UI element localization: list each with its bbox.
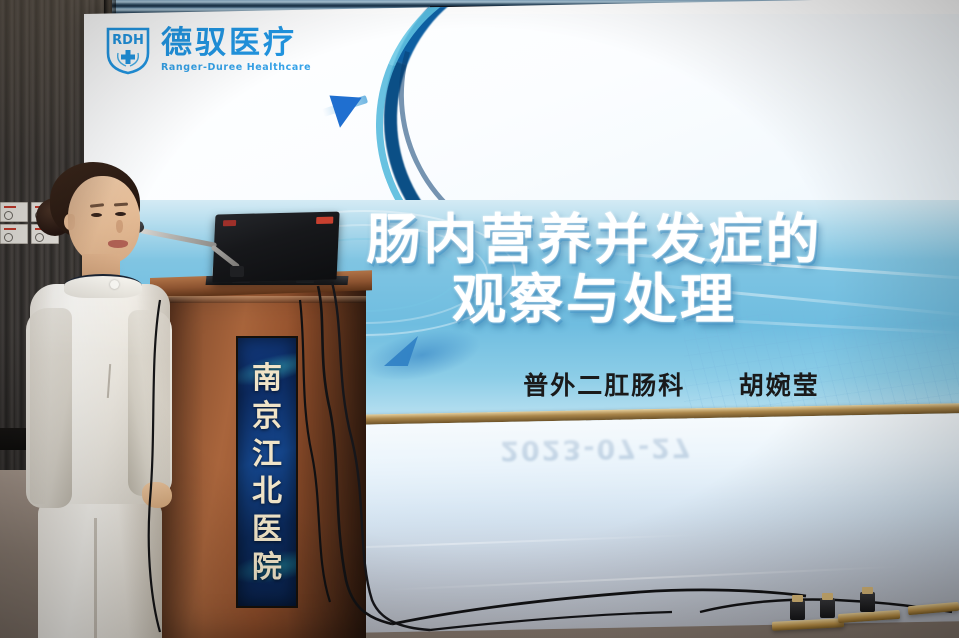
rdh-shield-icon: RDH: [104, 25, 152, 75]
presentation-photo: RDH 德驭医疗 Ranger-Duree Healthcare 肠内营养并发症…: [0, 0, 959, 638]
cable-connector: [860, 592, 875, 612]
speaker-legs-shading: [38, 500, 162, 638]
svg-text:RDH: RDH: [112, 33, 144, 48]
speaker-hand: [142, 482, 172, 508]
lectern-front-edge: [158, 296, 366, 303]
brand-name-en: Ranger-Duree Healthcare: [161, 62, 311, 73]
laptop-brand-logo-icon: [223, 220, 236, 226]
plaque-char: 院: [238, 549, 296, 587]
speaker-collar-button: [110, 280, 119, 289]
brand-logo: RDH 德驭医疗 Ranger-Duree Healthcare: [104, 25, 311, 75]
laptop-badge-icon: [316, 217, 333, 224]
plaque-text: 南 京 江 北 医 院: [238, 360, 296, 587]
speaker-uniform-folds: [30, 284, 170, 504]
cable-connector: [820, 598, 835, 618]
plaque-char: 南: [238, 360, 296, 398]
microphone-mount: [230, 266, 244, 277]
speaker: [24, 158, 184, 638]
plaque-char: 京: [238, 398, 296, 436]
speaker-collar: [64, 274, 142, 298]
speaker-face-shading: [68, 176, 140, 264]
brand-name-cn: 德驭医疗: [161, 28, 311, 59]
plaque-char: 医: [238, 511, 296, 549]
cable-connector: [790, 600, 805, 620]
plaque-char: 江: [238, 436, 296, 474]
plaque-char: 北: [238, 473, 296, 511]
hospital-name-plaque: 南 京 江 北 医 院: [236, 336, 298, 608]
